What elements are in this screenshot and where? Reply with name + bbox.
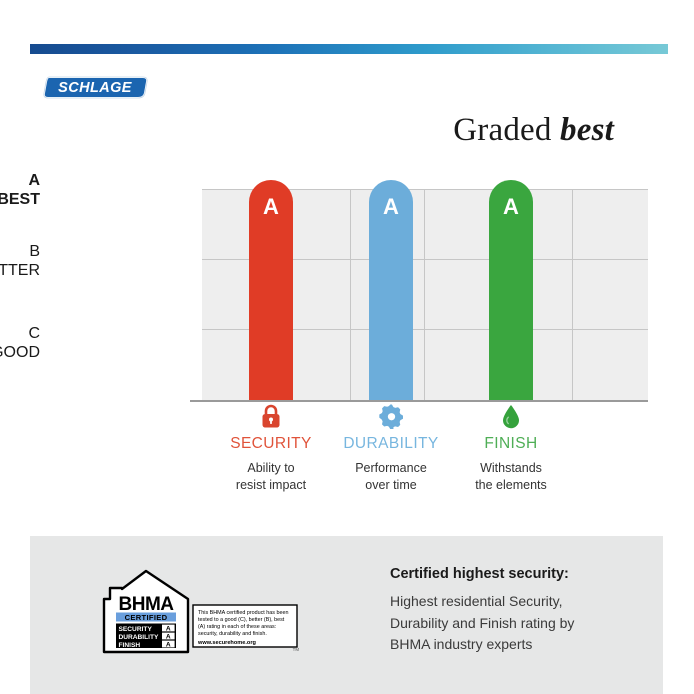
bar-grade-security: A <box>249 194 293 220</box>
certification-copy: Certified highest security: Highest resi… <box>390 566 640 656</box>
bar-grade-finish: A <box>489 194 533 220</box>
certification-body-line2: Durability and Finish rating by <box>390 615 574 631</box>
droplet-icon <box>436 404 586 430</box>
svg-text:This BHMA certified product ha: This BHMA certified product has been <box>198 610 289 616</box>
category-desc-finish-line2: the elements <box>475 478 547 492</box>
grade-word-a: BEST <box>0 191 40 210</box>
category-desc-security-line2: resist impact <box>236 478 306 492</box>
svg-text:security, durability and finis: security, durability and finish. <box>198 631 267 637</box>
page-title: Graded best <box>453 112 614 149</box>
headline-emphasis: best <box>560 112 614 148</box>
svg-text:tested to a good (C), better (: tested to a good (C), better (B), best <box>198 617 285 623</box>
svg-text:CERTIFIED: CERTIFIED <box>125 613 168 622</box>
svg-text:A: A <box>166 634 171 641</box>
category-title-finish: FINISH <box>436 435 586 453</box>
svg-text:FINISH: FINISH <box>119 642 141 649</box>
certification-body: Highest residential Security, Durability… <box>390 591 640 656</box>
gridline-vertical-5 <box>572 189 573 400</box>
bar-security[interactable]: A <box>249 180 293 400</box>
schlage-logo: SCHLAGE <box>42 74 150 100</box>
certification-band: BHMA CERTIFIED SECURITY A DURABILITY A F… <box>30 536 663 694</box>
category-desc-durability-line2: over time <box>365 478 416 492</box>
certification-body-line1: Highest residential Security, <box>390 593 562 609</box>
svg-text:SECURITY: SECURITY <box>119 626 153 633</box>
svg-text:A: A <box>166 626 171 633</box>
category-desc-security-line1: Ability to <box>247 461 294 475</box>
svg-text:TM: TM <box>293 647 300 652</box>
bar-durability[interactable]: A <box>369 180 413 400</box>
top-gradient-rule <box>30 44 668 54</box>
chart-baseline <box>190 400 648 402</box>
grade-bar-chart: A A A <box>202 189 648 400</box>
category-finish: FINISH Withstands the elements <box>436 404 586 494</box>
bhma-badge: BHMA CERTIFIED SECURITY A DURABILITY A F… <box>100 566 305 654</box>
bhma-house-icon: BHMA CERTIFIED SECURITY A DURABILITY A F… <box>100 566 305 654</box>
grade-word-c: GOOD <box>0 344 40 363</box>
svg-text:SCHLAGE: SCHLAGE <box>58 80 133 96</box>
schlage-logo-icon: SCHLAGE <box>42 74 150 100</box>
svg-text:(A) rating in each of these ar: (A) rating in each of these areas: <box>198 624 276 630</box>
certification-title: Certified highest security: <box>390 566 640 582</box>
grade-letter-a: A <box>0 172 40 191</box>
certification-body-line3: BHMA industry experts <box>390 636 532 652</box>
grade-letter-c: C <box>0 325 40 344</box>
bar-grade-durability: A <box>369 194 413 220</box>
grade-label-b: B BETTER <box>0 243 40 281</box>
bar-finish[interactable]: A <box>489 180 533 400</box>
infographic-page: SCHLAGE Graded best A BEST B BETTER C GO… <box>0 0 694 694</box>
grade-letter-b: B <box>0 243 40 262</box>
category-desc-finish-line1: Withstands <box>480 461 542 475</box>
svg-text:A: A <box>166 642 171 649</box>
gridline-vertical-2 <box>350 189 351 400</box>
headline-regular: Graded <box>453 112 551 148</box>
grade-word-b: BETTER <box>0 262 40 281</box>
svg-text:www.securehome.org: www.securehome.org <box>197 640 257 646</box>
gridline-vertical-3 <box>424 189 425 400</box>
grade-label-c: C GOOD <box>0 325 40 363</box>
category-row: SECURITY Ability to resist impact DURABI… <box>202 404 648 499</box>
grade-label-a: A BEST <box>0 172 40 210</box>
svg-text:DURABILITY: DURABILITY <box>119 634 160 641</box>
category-desc-finish: Withstands the elements <box>436 460 586 494</box>
category-desc-durability-line1: Performance <box>355 461 427 475</box>
